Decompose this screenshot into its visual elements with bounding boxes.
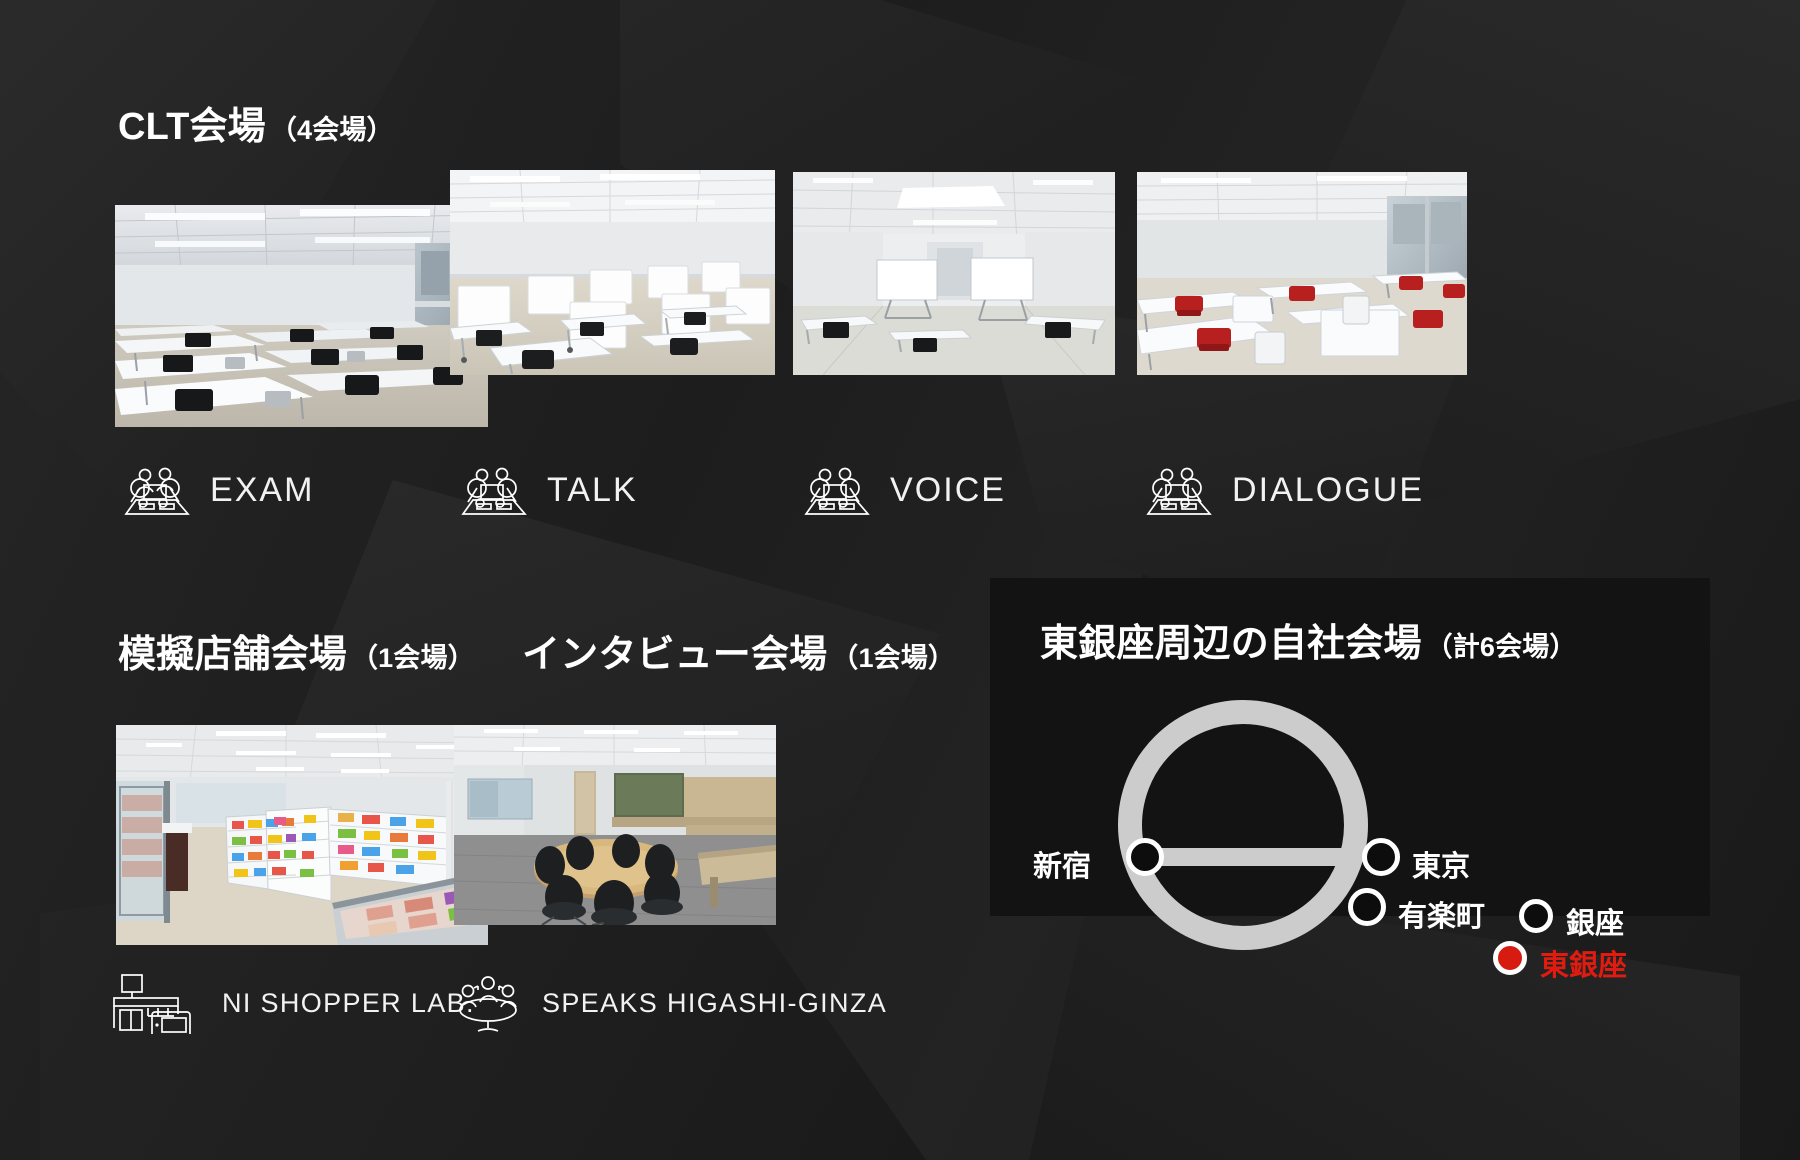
venue-label-exam[interactable]: EXAM [118, 462, 315, 518]
clt-section-heading: CLT会場（4会場） [118, 108, 394, 146]
legend-dot-ginza [1519, 899, 1553, 933]
station-dot-shinjuku[interactable] [1126, 838, 1164, 876]
venue-label-dialogue[interactable]: DIALOGUE [1140, 462, 1424, 518]
map-title-count: （計6会場） [1426, 632, 1577, 662]
station-label-yurakucho: 有楽町 [1398, 893, 1485, 935]
clt-title: CLT会場 [118, 106, 266, 148]
background-facet [1020, 880, 1740, 1160]
yamanote-loop-line [1118, 700, 1368, 950]
storefront-icon [112, 972, 208, 1034]
round-table-discussion-icon [452, 972, 528, 1034]
photo-voice [793, 172, 1115, 375]
venue-label-speaks-higashi-ginza[interactable]: SPEAKS HIGASHI-GINZA [452, 972, 887, 1034]
station-dot-yurakucho[interactable] [1348, 888, 1386, 926]
map-section-heading: 東銀座周辺の自社会場（計6会場） [1040, 625, 1577, 663]
venue-label-voice[interactable]: VOICE [798, 462, 1006, 518]
store-title-count: （1会場） [351, 643, 475, 673]
station-dot-tokyo[interactable] [1362, 838, 1400, 876]
legend-label-higashi-ginza: 東銀座 [1540, 942, 1627, 984]
legend-dot-higashi-ginza [1493, 941, 1527, 975]
photo-ni-shopper-lab [116, 725, 488, 945]
photo-exam [115, 205, 488, 427]
venue-label-text: NI SHOPPER LAB. [222, 988, 475, 1019]
interview-section-heading: インタビュー会場（1会場） [522, 636, 955, 674]
venue-label-talk[interactable]: TALK [455, 462, 638, 518]
station-label-shinjuku: 新宿 [1033, 843, 1091, 885]
classroom-people-icon [455, 462, 533, 518]
photo-dialogue [1137, 172, 1467, 375]
clt-title-count: （4会場） [270, 115, 394, 145]
legend-label-ginza: 銀座 [1566, 900, 1624, 942]
chuo-line [1133, 848, 1355, 866]
venue-label-text: VOICE [890, 471, 1006, 510]
venue-label-text: TALK [547, 471, 638, 510]
interview-title: インタビュー会場 [522, 634, 827, 676]
classroom-people-icon [118, 462, 196, 518]
store-title: 模擬店舗会場 [118, 634, 347, 676]
classroom-people-icon [798, 462, 876, 518]
map-title: 東銀座周辺の自社会場 [1040, 623, 1422, 665]
slide-root: CLT会場（4会場） [0, 0, 1800, 1160]
station-label-tokyo: 東京 [1412, 843, 1470, 885]
photo-talk [450, 170, 775, 375]
venue-label-text: SPEAKS HIGASHI-GINZA [542, 988, 887, 1019]
interview-title-count: （1会場） [831, 643, 955, 673]
photo-speaks-higashi-ginza [454, 725, 776, 925]
classroom-people-icon [1140, 462, 1218, 518]
venue-label-ni-shopper-lab[interactable]: NI SHOPPER LAB. [112, 972, 475, 1034]
venue-label-text: DIALOGUE [1232, 471, 1424, 510]
venue-label-text: EXAM [210, 471, 315, 510]
store-section-heading: 模擬店舗会場（1会場） [118, 636, 475, 674]
